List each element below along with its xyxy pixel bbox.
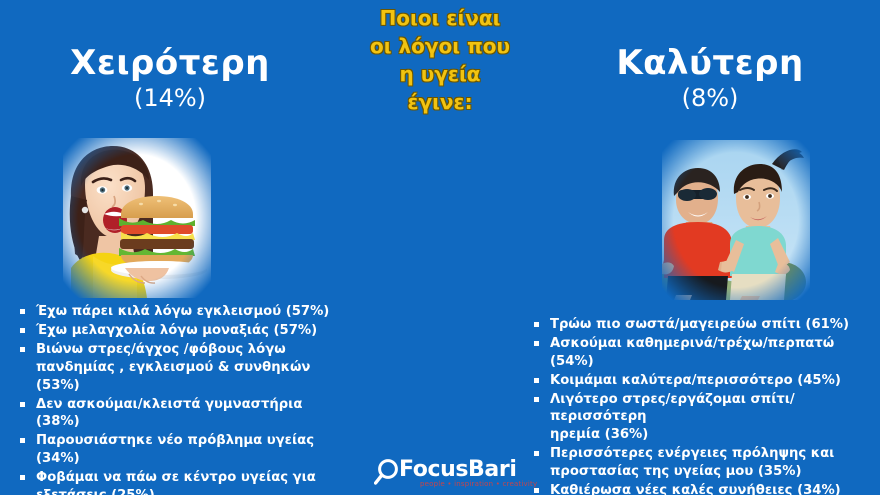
list-item: ηρεμία (36%)	[528, 426, 878, 444]
list-item: Ασκούμαι καθημερινά/τρέχω/περπατώ (54%)	[528, 335, 878, 370]
center-title: Ποιοι είναι οι λόγοι που η υγεία έγινε:	[340, 4, 540, 116]
list-item: Περισσότερες ενέργειες πρόληψης και	[528, 445, 878, 463]
list-item: Έχω μελαγχολία λόγω μοναξιάς (57%)	[14, 322, 336, 340]
list-item: Έχω πάρει κιλά λόγω εγκλεισμού (57%)	[14, 303, 336, 321]
center-title-line-1: Ποιοι είναι	[340, 4, 540, 32]
left-panel-heading: Χειρότερη	[0, 44, 340, 82]
logo-tagline: people • inspiration • creativity	[420, 480, 537, 488]
woman-eating-burger-photo	[63, 138, 211, 298]
list-item: εξετάσεις (25%)	[14, 487, 336, 495]
list-item: Βιώνω στρες/άγχος /φόβους λόγω	[14, 341, 336, 359]
list-item: προστασίας της υγείας μου (35%)	[528, 463, 878, 481]
list-item: Φοβάμαι να πάω σε κέντρο υγείας για	[14, 469, 336, 487]
right-panel-heading: Καλύτερη	[540, 44, 880, 82]
left-panel-heading-group: Χειρότερη (14%)	[0, 44, 340, 114]
couple-jogging-photo	[662, 140, 810, 300]
list-item: Λιγότερο στρες/εργάζομαι σπίτι/περισσότε…	[528, 391, 878, 426]
list-item: πανδημίας , εγκλεισμού & συνθηκών (53%)	[14, 359, 336, 394]
list-item: Καθιέρωσα νέες καλές συνήθειες (34%)	[528, 482, 878, 495]
slide-canvas: Ποιοι είναι οι λόγοι που η υγεία έγινε: …	[0, 0, 880, 495]
focusbari-logo: FocusBari people • inspiration • creativ…	[374, 455, 522, 493]
center-title-line-4: έγινε:	[340, 88, 540, 116]
right-panel-bullet-list: Τρώω πιο σωστά/μαγειρεύω σπίτι (61%) Ασκ…	[528, 316, 878, 495]
list-item: Κοιμάμαι καλύτερα/περισσότερο (45%)	[528, 372, 878, 390]
center-title-line-3: η υγεία	[340, 60, 540, 88]
list-item: Παρουσιάστηκε νέο πρόβλημα υγείας (34%)	[14, 432, 336, 467]
left-panel-subheading: (14%)	[0, 83, 340, 114]
left-panel-bullet-list: Έχω πάρει κιλά λόγω εγκλεισμού (57%) Έχω…	[14, 303, 336, 495]
right-panel-heading-group: Καλύτερη (8%)	[540, 44, 880, 114]
right-panel-subheading: (8%)	[540, 83, 880, 114]
center-title-line-2: οι λόγοι που	[340, 32, 540, 60]
list-item: Δεν ασκούμαι/κλειστά γυμναστήρια (38%)	[14, 396, 336, 431]
list-item: Τρώω πιο σωστά/μαγειρεύω σπίτι (61%)	[528, 316, 878, 334]
magnifying-glass-icon	[374, 459, 400, 485]
logo-brand-text: FocusBari	[399, 457, 516, 482]
